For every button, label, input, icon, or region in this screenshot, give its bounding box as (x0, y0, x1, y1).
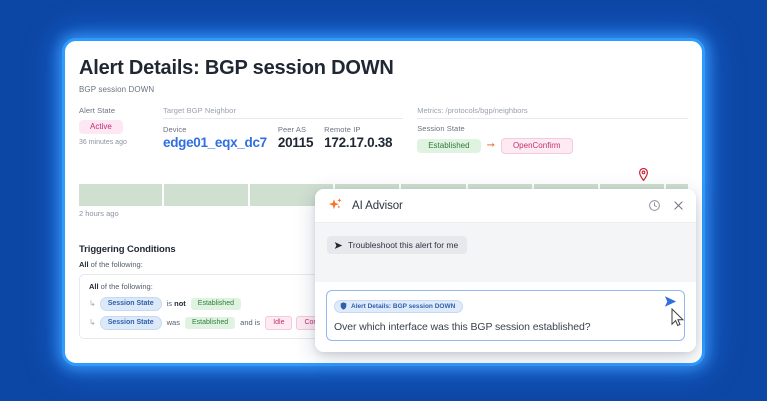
page-title: Alert Details: BGP session DOWN (79, 56, 688, 80)
ai-composer-input[interactable]: Over which interface was this BGP sessio… (334, 321, 677, 333)
condition-operator-mid: and is (240, 318, 260, 327)
session-state-label: Session State (417, 124, 688, 133)
context-chip[interactable]: Alert Details: BGP session DOWN (334, 300, 463, 313)
sparkle-icon (327, 197, 344, 214)
field-peer-as: Peer AS 20115 (278, 125, 313, 150)
send-icon[interactable] (663, 294, 678, 309)
ai-advisor-footer: Alert Details: BGP session DOWN Over whi… (315, 282, 696, 352)
timeline-start-label: 2 hours ago (79, 209, 119, 218)
condition-value[interactable]: Established (185, 317, 235, 329)
condition-operator: is not (167, 299, 186, 308)
outer-logic-word: All (79, 260, 89, 269)
arrow-right-icon: ➞ (487, 141, 495, 151)
ai-advisor-panel: AI Advisor Troubleshoot (315, 189, 696, 352)
device-link[interactable]: edge01_eqx_dc7 (163, 135, 267, 150)
target-neighbor-heading: Target BGP Neighbor (163, 106, 403, 119)
condition-operator: was (167, 318, 180, 327)
field-peer-as-label: Peer AS (278, 125, 313, 134)
operator-strong: not (174, 299, 186, 308)
branch-arrow-icon: ↳ (89, 299, 96, 308)
condition-value[interactable]: Idle (265, 316, 292, 330)
map-pin-icon (639, 168, 648, 181)
status-badge: Active (79, 120, 123, 134)
ai-advisor-body: Troubleshoot this alert for me (315, 223, 696, 282)
alert-state-label: Alert State (79, 106, 153, 115)
page-subtitle: BGP session DOWN (79, 85, 688, 94)
history-clock-icon[interactable] (648, 199, 661, 212)
field-remote-ip-label: Remote IP (324, 125, 392, 134)
ai-advisor-title: AI Advisor (352, 200, 637, 212)
timeline-segment[interactable] (164, 184, 247, 206)
inner-logic-word: All (89, 282, 99, 291)
suggestion-chip-label: Troubleshoot this alert for me (348, 240, 458, 250)
ai-composer[interactable]: Alert Details: BGP session DOWN Over whi… (326, 290, 685, 341)
branch-arrow-icon: ↳ (89, 318, 96, 327)
suggestion-chip-troubleshoot[interactable]: Troubleshoot this alert for me (327, 236, 467, 254)
remote-ip-value: 172.17.0.38 (324, 135, 392, 150)
target-bgp-neighbor-column: Target BGP Neighbor Device edge01_eqx_dc… (163, 106, 403, 150)
condition-subject[interactable]: Session State (100, 316, 162, 330)
timeline-segment[interactable] (79, 184, 162, 206)
alert-state-column: Alert State Active 36 minutes ago (79, 106, 153, 146)
operator-pre: is (167, 299, 175, 308)
inner-logic-suffix: of the following: (99, 282, 153, 291)
alert-age-text: 36 minutes ago (79, 139, 153, 146)
condition-subject[interactable]: Session State (100, 297, 162, 311)
outer-logic-suffix: of the following: (89, 260, 143, 269)
metrics-column: Metrics: /protocols/bgp/neighbors Sessio… (417, 106, 688, 154)
shield-icon (340, 302, 347, 310)
screenshot-stage: Alert Details: BGP session DOWN BGP sess… (0, 0, 767, 401)
condition-value[interactable]: Established (191, 298, 241, 310)
ai-advisor-header: AI Advisor (315, 189, 696, 223)
field-remote-ip: Remote IP 172.17.0.38 (324, 125, 392, 150)
field-device: Device edge01_eqx_dc7 (163, 125, 267, 150)
metrics-heading: Metrics: /protocols/bgp/neighbors (417, 106, 688, 119)
peer-as-value: 20115 (278, 135, 313, 150)
alert-summary-row: Alert State Active 36 minutes ago Target… (79, 106, 688, 154)
session-state-to-badge: OpenConfirm (501, 138, 573, 154)
close-icon[interactable] (672, 199, 685, 212)
field-device-label: Device (163, 125, 267, 134)
context-chip-label: Alert Details: BGP session DOWN (351, 303, 455, 310)
send-arrow-icon (334, 241, 343, 250)
session-state-from-badge: Established (417, 139, 480, 153)
